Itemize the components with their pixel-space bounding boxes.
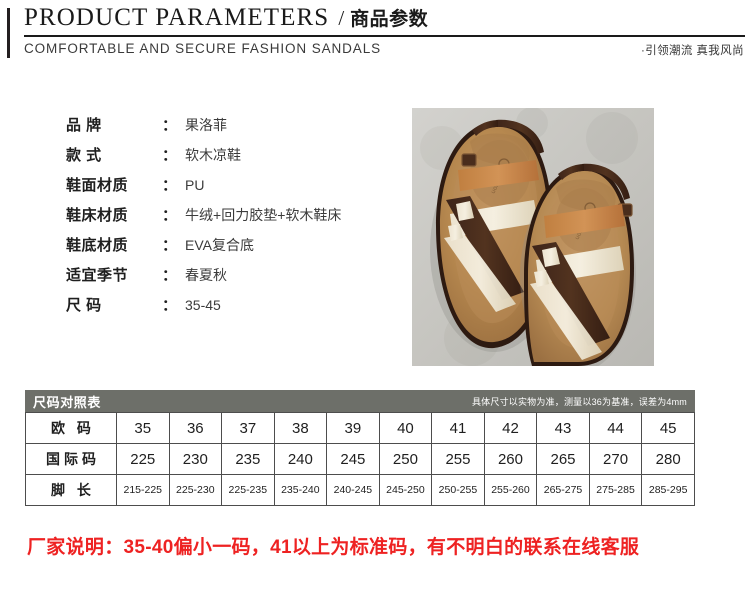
spec-label: 品 牌 <box>66 114 162 135</box>
spec-row-brand: 品 牌 ： 果洛菲 <box>66 114 396 144</box>
table-cell: 225-230 <box>169 475 222 506</box>
spec-value: 软木凉鞋 <box>185 145 241 165</box>
table-cell: 260 <box>484 444 537 475</box>
table-cell: 250 <box>379 444 432 475</box>
table-cell: 230 <box>169 444 222 475</box>
table-cell: 215-225 <box>117 475 170 506</box>
spec-colon: ： <box>162 294 177 315</box>
size-chart-table: 欧 码 35 36 37 38 39 40 41 42 43 44 45 国际码… <box>25 412 695 506</box>
table-cell: 245-250 <box>379 475 432 506</box>
table-cell: 240 <box>274 444 327 475</box>
table-cell: 250-255 <box>432 475 485 506</box>
title-separator-slash: / <box>338 6 344 31</box>
spec-value: 牛绒+回力胶垫+软木鞋床 <box>185 205 341 225</box>
table-cell: 235 <box>222 444 275 475</box>
table-cell: 37 <box>222 413 275 444</box>
table-cell: 43 <box>537 413 590 444</box>
spec-row-season: 适宜季节 ： 春夏秋 <box>66 264 396 294</box>
table-cell: 225-235 <box>222 475 275 506</box>
table-cell: 42 <box>484 413 537 444</box>
spec-row-upper-material: 鞋面材质 ： PU <box>66 174 396 204</box>
table-row: 欧 码 35 36 37 38 39 40 41 42 43 44 45 <box>26 413 695 444</box>
row-header-intl-size: 国际码 <box>26 444 117 475</box>
header-tagline: ·引领潮流 真我风尚 <box>641 42 744 58</box>
spec-colon: ： <box>162 174 177 195</box>
table-cell: 40 <box>379 413 432 444</box>
table-cell: 285-295 <box>642 475 695 506</box>
size-chart-title: 尺码对照表 <box>33 392 101 411</box>
spec-row-size-range: 尺 码 ： 35-45 <box>66 294 396 324</box>
spec-colon: ： <box>162 144 177 165</box>
table-cell: 245 <box>327 444 380 475</box>
page-header: PRODUCT PARAMETERS / 商品参数 COMFORTABLE AN… <box>0 0 750 66</box>
size-chart-header: 尺码对照表 具体尺寸以实物为准，测量以36为基准，误差为4mm <box>25 390 695 412</box>
spec-colon: ： <box>162 204 177 225</box>
table-cell: 275-285 <box>589 475 642 506</box>
spec-colon: ： <box>162 234 177 255</box>
spec-label: 款 式 <box>66 144 162 165</box>
header-accent-bar <box>7 8 10 58</box>
spec-value: 春夏秋 <box>185 265 227 285</box>
page-title-chinese: 商品参数 <box>350 4 428 31</box>
table-cell: 265 <box>537 444 590 475</box>
size-chart-note: 具体尺寸以实物为准，测量以36为基准，误差为4mm <box>472 395 687 408</box>
spec-colon: ： <box>162 264 177 285</box>
spec-label: 适宜季节 <box>66 264 162 285</box>
table-row: 脚 长 215-225 225-230 225-235 235-240 240-… <box>26 475 695 506</box>
page-title: PRODUCT PARAMETERS / 商品参数 <box>24 4 428 31</box>
table-cell: 280 <box>642 444 695 475</box>
table-cell: 255 <box>432 444 485 475</box>
spec-value: 果洛菲 <box>185 115 227 135</box>
size-chart: 尺码对照表 具体尺寸以实物为准，测量以36为基准，误差为4mm 欧 码 35 3… <box>25 390 695 506</box>
spec-label: 尺 码 <box>66 294 162 315</box>
spec-row-footbed-material: 鞋床材质 ： 牛绒+回力胶垫+软木鞋床 <box>66 204 396 234</box>
spec-label: 鞋底材质 <box>66 234 162 255</box>
spec-label: 鞋面材质 <box>66 174 162 195</box>
header-divider <box>24 35 745 37</box>
spec-value: EVA复合底 <box>185 235 254 255</box>
spec-row-outsole-material: 鞋底材质 ： EVA复合底 <box>66 234 396 264</box>
table-cell: 270 <box>589 444 642 475</box>
product-spec-list: 品 牌 ： 果洛菲 款 式 ： 软木凉鞋 鞋面材质 ： PU 鞋床材质 ： 牛绒… <box>66 114 396 324</box>
table-cell: 36 <box>169 413 222 444</box>
table-cell: 235-240 <box>274 475 327 506</box>
spec-row-style: 款 式 ： 软木凉鞋 <box>66 144 396 174</box>
spec-label: 鞋床材质 <box>66 204 162 225</box>
spec-colon: ： <box>162 114 177 135</box>
page-subtitle: COMFORTABLE AND SECURE FASHION SANDALS <box>24 41 381 56</box>
table-cell: 38 <box>274 413 327 444</box>
page-title-english: PRODUCT PARAMETERS <box>24 5 329 30</box>
spec-value: 35-45 <box>185 297 221 313</box>
row-header-eu-size: 欧 码 <box>26 413 117 444</box>
manufacturer-note: 厂家说明：35-40偏小一码，41以上为标准码，有不明白的联系在线客服 <box>27 532 639 559</box>
table-cell: 255-260 <box>484 475 537 506</box>
row-header-foot-length: 脚 长 <box>26 475 117 506</box>
table-row: 国际码 225 230 235 240 245 250 255 260 265 … <box>26 444 695 475</box>
table-cell: 240-245 <box>327 475 380 506</box>
table-cell: 39 <box>327 413 380 444</box>
sandal-pair-illustration: uomous <box>412 108 654 366</box>
product-photo: uomous <box>412 108 654 366</box>
table-cell: 41 <box>432 413 485 444</box>
table-cell: 265-275 <box>537 475 590 506</box>
table-cell: 225 <box>117 444 170 475</box>
table-cell: 44 <box>589 413 642 444</box>
table-cell: 45 <box>642 413 695 444</box>
spec-value: PU <box>185 177 204 193</box>
table-cell: 35 <box>117 413 170 444</box>
